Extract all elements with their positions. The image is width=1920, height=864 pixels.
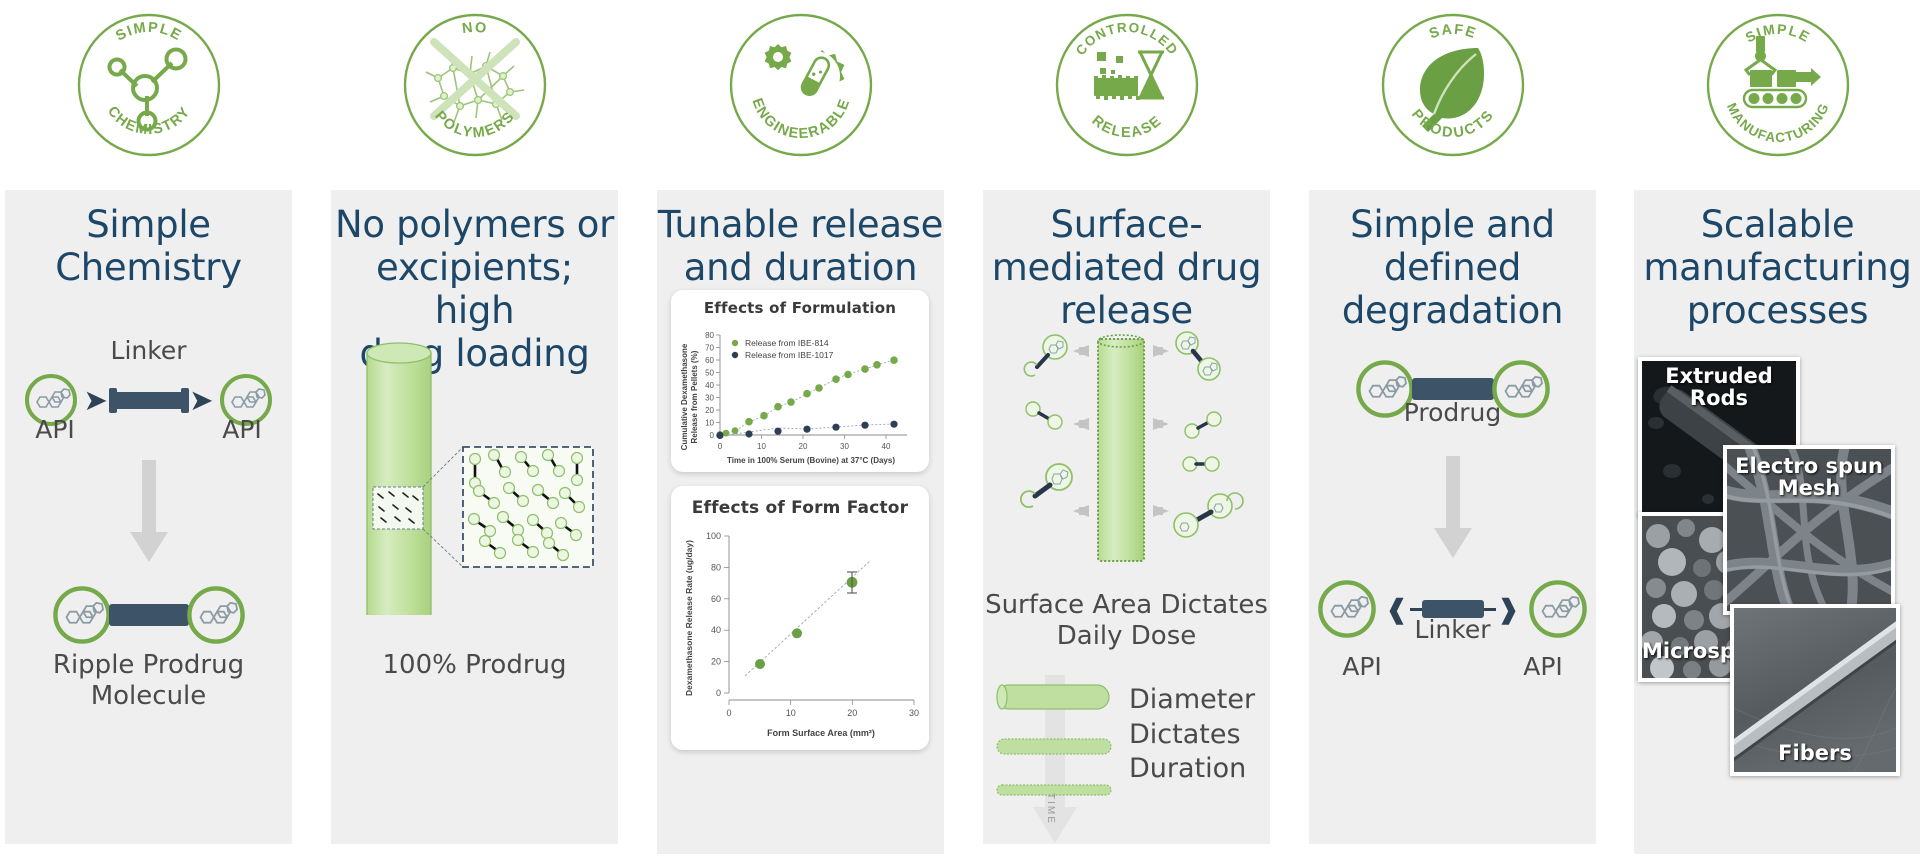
leaf-icon: SAFE PRODUCTS: [1376, 8, 1530, 162]
svg-text:SAFE: SAFE: [1427, 22, 1479, 43]
headline-line: Surface-: [983, 204, 1270, 247]
panel-surface-mediated-release: Surface- mediated drug release: [983, 190, 1270, 844]
headline-defined-degradation: Simple and defined degradation: [1309, 190, 1596, 333]
hourglass-release-icon: CONTROLLED RELEASE: [1050, 8, 1204, 162]
badge-bottom-label: POLYMERS: [431, 108, 518, 141]
tile-label-line: Mesh: [1727, 477, 1891, 499]
headline-line: Simple and: [1309, 204, 1596, 247]
svg-text:POLYMERS: POLYMERS: [431, 108, 518, 141]
chart1-ylabel-line2: Release from Pellets (%): [690, 350, 699, 443]
svg-text:60: 60: [705, 356, 714, 365]
arrow-right-icon: ➤: [85, 387, 107, 413]
prodrug-row: [5, 584, 292, 646]
api-right-label: API: [202, 415, 282, 444]
svg-text:10: 10: [786, 708, 796, 718]
badge-controlled-release: CONTROLLED RELEASE: [1050, 8, 1204, 162]
panel-scalable-manufacturing: Scalable manufacturing processes: [1634, 190, 1920, 854]
tile-label-line: Fibers: [1734, 742, 1896, 764]
chart-title: Effects of Form Factor: [671, 486, 929, 518]
chart1-legend-0: Release from IBE-814: [745, 338, 829, 348]
column-no-polymers: NO POLYMERS No polymers or excipients; h…: [331, 0, 618, 864]
tile-electrospun-mesh: Electro spun Mesh: [1723, 445, 1895, 615]
headline-line: excipients; high: [331, 247, 618, 333]
chart-card-effects-of-formulation: Effects of Formulation 80 70 60 50 40 30…: [671, 290, 929, 472]
panel-simple-chemistry: Simple Chemistry Linker ➤: [5, 190, 292, 844]
result-line: Ripple Prodrug: [5, 650, 292, 681]
svg-text:ENGINEERABLE: ENGINEERABLE: [748, 96, 853, 142]
panel-tunable-release: Tunable release and duration Effects of …: [657, 190, 944, 854]
svg-text:10: 10: [757, 442, 766, 451]
badge-top-label: SIMPLE: [113, 20, 185, 45]
time-axis-label: TIME: [1045, 793, 1056, 825]
svg-text:20: 20: [799, 442, 808, 451]
infographic-board: SIMPLE CHEMISTRY Simple Chemistry Linker: [0, 0, 1920, 864]
tile-label: Extruded Rods: [1642, 365, 1796, 409]
column-tunable-release: ENGINEERABLE Tunable release and duratio…: [657, 0, 944, 864]
panel-defined-degradation: Simple and defined degradation: [1309, 190, 1596, 844]
svg-text:NO: NO: [461, 20, 489, 37]
svg-text:70: 70: [705, 344, 714, 353]
surface-area-caption: Surface Area Dictates Daily Dose: [983, 590, 1270, 652]
api-left-label: API: [15, 415, 95, 444]
tile-label-line: Extruded: [1642, 365, 1796, 387]
molecule-icon: SIMPLE CHEMISTRY: [72, 8, 226, 162]
result-caption: 100% Prodrug: [331, 650, 618, 681]
column-scalable-manufacturing: SIMPLE MANUFACTURING Scalable manufactur…: [1634, 0, 1920, 864]
headline-line: Simple: [5, 204, 292, 247]
svg-text:40: 40: [711, 625, 721, 635]
headline-line: and duration: [657, 247, 944, 290]
chart-title: Effects of Formulation: [671, 290, 929, 317]
svg-text:0: 0: [716, 688, 721, 698]
conveyor-robot-icon: SIMPLE MANUFACTURING: [1701, 8, 1855, 162]
diameter-line: Dictates: [1129, 718, 1266, 753]
svg-text:30: 30: [705, 394, 714, 403]
prodrug-cylinder-diagram: [345, 335, 607, 635]
svg-text:20: 20: [847, 708, 857, 718]
chart1-ylabel-line1: Cumulative Dexamethasone: [680, 343, 689, 450]
headline-line: mediated drug: [983, 247, 1270, 290]
api-molecule-icon: [51, 584, 113, 646]
polymer-network-crossed-icon: NO POLYMERS: [398, 8, 552, 162]
headline-simple-chemistry: Simple Chemistry: [5, 190, 292, 290]
tile-label: Electro spun Mesh: [1727, 455, 1891, 499]
badge-safe-products: SAFE PRODUCTS: [1376, 8, 1530, 162]
svg-text:30: 30: [909, 708, 919, 718]
headline-line: Chemistry: [5, 247, 292, 290]
svg-text:0: 0: [710, 431, 715, 440]
badge-bottom-label: RELEASE: [1088, 113, 1165, 141]
badge-engineerable: ENGINEERABLE: [724, 8, 878, 162]
api-left-label: API: [1319, 652, 1405, 681]
svg-text:SIMPLE: SIMPLE: [113, 20, 185, 45]
chart1-xlabel: Time in 100% Serum (Bovine) at 37°C (Day…: [727, 456, 895, 465]
diameter-duration-caption: Diameter Dictates Duration: [1129, 683, 1266, 787]
headline-line: manufacturing: [1634, 247, 1920, 290]
tile-fibers: Fibers: [1730, 604, 1900, 776]
headline-line: defined: [1309, 247, 1596, 290]
chart-effects-of-formulation: 80 70 60 50 40 30 20 10 0 0 10 20: [671, 317, 929, 467]
prodrug-label: Prodrug: [1309, 398, 1596, 427]
chart2-ylabel: Dexamethasone Release Rate (ug/day): [684, 540, 694, 696]
chart2-xlabel: Form Surface Area (mm²): [767, 728, 875, 738]
svg-text:20: 20: [705, 406, 714, 415]
column-surface-mediated-release: CONTROLLED RELEASE Surface- mediated dru…: [983, 0, 1270, 864]
tile-label-line: Electro spun: [1727, 455, 1891, 477]
svg-text:40: 40: [882, 442, 891, 451]
chart-effects-of-form-factor: 100 80 60 40 20 0 0 10 20 30 Dexamethaso…: [671, 518, 929, 744]
linker-label: Linker: [1309, 615, 1596, 644]
down-arrow-icon: [125, 460, 173, 569]
gear-vial-icon: ENGINEERABLE: [724, 8, 878, 162]
chart1-legend-1: Release from IBE-1017: [745, 350, 834, 360]
down-arrow-icon: [1429, 456, 1477, 565]
badge-bottom-label: ENGINEERABLE: [748, 96, 853, 142]
headline-line: Scalable: [1634, 204, 1920, 247]
svg-text:10: 10: [705, 419, 714, 428]
tile-label: Fibers: [1734, 742, 1896, 764]
diameter-line: Duration: [1129, 752, 1266, 787]
diameter-line: Diameter: [1129, 683, 1266, 718]
headline-tunable-release: Tunable release and duration: [657, 190, 944, 290]
linker-bond: [109, 604, 189, 626]
result-line: 100% Prodrug: [331, 650, 618, 681]
linker-bar: [113, 392, 185, 409]
headline-line: Tunable release: [657, 204, 944, 247]
svg-text:50: 50: [705, 369, 714, 378]
svg-text:SIMPLE: SIMPLE: [1742, 21, 1813, 46]
chart-card-effects-of-form-factor: Effects of Form Factor 100 80 60 40 20 0…: [671, 486, 929, 750]
svg-text:20: 20: [711, 657, 721, 667]
surface-area-line: Surface Area Dictates: [983, 590, 1270, 621]
headline-surface-mediated-release: Surface- mediated drug release: [983, 190, 1270, 333]
headline-scalable-manufacturing: Scalable manufacturing processes: [1634, 190, 1920, 333]
svg-text:40: 40: [705, 381, 714, 390]
svg-text:80: 80: [705, 331, 714, 340]
badge-top-label: NO: [461, 20, 489, 37]
badge-top-label: SAFE: [1427, 22, 1479, 43]
surface-release-diagram: [993, 325, 1260, 580]
svg-text:RELEASE: RELEASE: [1088, 113, 1165, 141]
column-simple-chemistry: SIMPLE CHEMISTRY Simple Chemistry Linker: [5, 0, 292, 864]
column-defined-degradation: SAFE PRODUCTS Simple and defined degrada…: [1309, 0, 1596, 864]
badge-top-label: SIMPLE: [1742, 21, 1813, 46]
arrow-left-icon: ➤: [191, 387, 213, 413]
badge-simple-manufacturing: SIMPLE MANUFACTURING: [1701, 8, 1855, 162]
badge-simple-chemistry: SIMPLE CHEMISTRY: [72, 8, 226, 162]
svg-text:0: 0: [726, 708, 731, 718]
headline-line: processes: [1634, 290, 1920, 333]
result-caption: Ripple Prodrug Molecule: [5, 650, 292, 712]
svg-text:80: 80: [711, 562, 721, 572]
api-right-label: API: [1500, 652, 1586, 681]
svg-text:30: 30: [840, 442, 849, 451]
tile-label-line: Rods: [1642, 387, 1796, 409]
headline-line: degradation: [1309, 290, 1596, 333]
svg-text:0: 0: [718, 442, 723, 451]
result-line: Molecule: [5, 681, 292, 712]
svg-text:60: 60: [711, 594, 721, 604]
panel-no-polymers: No polymers or excipients; high drug loa…: [331, 190, 618, 844]
headline-line: No polymers or: [331, 204, 618, 247]
badge-no-polymers: NO POLYMERS: [398, 8, 552, 162]
svg-text:100: 100: [706, 531, 721, 541]
surface-area-line: Daily Dose: [983, 621, 1270, 652]
diameter-duration-diagram: [989, 675, 1129, 850]
linker-bond: [1412, 378, 1494, 400]
linker-label: Linker: [5, 336, 292, 365]
api-molecule-icon: [185, 584, 247, 646]
